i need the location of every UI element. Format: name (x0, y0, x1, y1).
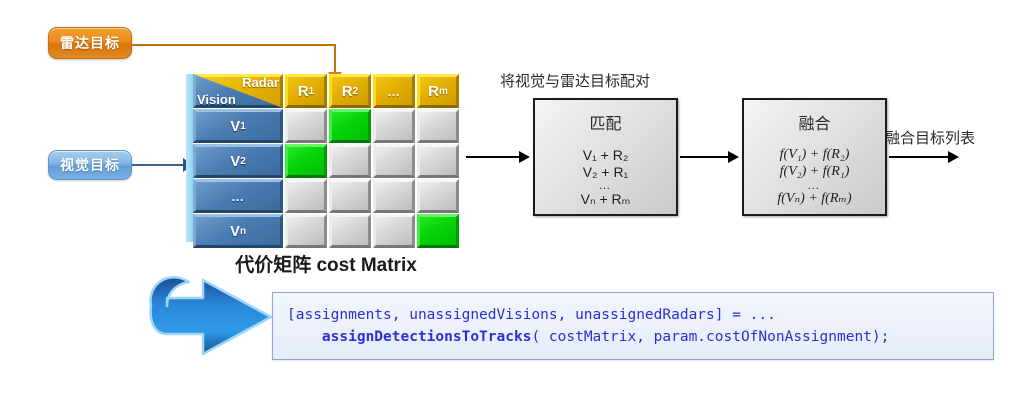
matrix-row-3: Vn (193, 214, 459, 248)
col-header-sub-1: 2 (353, 86, 359, 97)
matrix-row-2: … (193, 179, 459, 213)
radar-connector-vertical (334, 44, 336, 74)
row-header-sub-3: n (240, 226, 246, 237)
code-function-name: assignDetectionsToTracks (322, 329, 532, 345)
arrow-matrix-to-match (466, 156, 521, 158)
match-line-3: Vₙ + Rₘ (535, 191, 676, 208)
matrix-cell-1-1[interactable] (329, 144, 371, 178)
matrix-row-header-3: Vn (193, 214, 283, 248)
arrow-match-to-fuse-head (728, 151, 739, 163)
matrix-cell-2-3[interactable] (417, 179, 459, 213)
matrix-col-header-3: Rm (417, 74, 459, 108)
arrow-fuse-to-output (889, 156, 951, 158)
match-line-2: … (535, 180, 676, 191)
matrix-cell-1-3[interactable] (417, 144, 459, 178)
matrix-cell-3-2[interactable] (373, 214, 415, 248)
fuse-box-title: 融合 (744, 110, 885, 134)
match-process-box: 匹配 V₁ + R₂ V₂ + R₁ … Vₙ + Rₘ (533, 98, 678, 216)
matrix-cell-0-3[interactable] (417, 109, 459, 143)
corner-vision-label: Vision (197, 92, 236, 107)
row-header-text-0: V (230, 118, 240, 135)
arrow-fuse-to-output-head (948, 151, 959, 163)
curved-arrow-icon (145, 272, 280, 364)
matrix-cell-2-2[interactable] (373, 179, 415, 213)
match-box-lines: V₁ + R₂ V₂ + R₁ … Vₙ + Rₘ (535, 147, 676, 207)
matrix-corner-cell: Radar Vision (193, 74, 283, 108)
arrow-match-to-fuse (680, 156, 730, 158)
fuse-line-2: … (744, 180, 885, 191)
pairing-caption: 将视觉与雷达目标配对 (500, 70, 650, 91)
col-header-text-2: … (387, 84, 401, 99)
arrow-matrix-to-match-head (519, 151, 530, 163)
col-header-sub-3: m (439, 86, 448, 97)
row-header-sub-1: 2 (240, 156, 246, 167)
corner-radar-label: Radar (242, 75, 279, 90)
col-header-text-1: R (342, 83, 353, 100)
matrix-col-header-0: R1 (285, 74, 327, 108)
matrix-cell-3-3[interactable] (417, 214, 459, 248)
matrix-col-header-2: … (373, 74, 415, 108)
matrix-header-row: Radar Vision R1 R2 … Rm (193, 74, 459, 108)
match-box-title: 匹配 (535, 110, 676, 134)
matrix-left-edge (186, 74, 193, 242)
code-line-1: [assignments, unassignedVisions, unassig… (287, 304, 993, 326)
matrix-cell-2-0[interactable] (285, 179, 327, 213)
fuse-box-lines: f(V₁) + f(R₂) f(V₂) + f(R₁) … f(Vₙ) + f(… (744, 147, 885, 207)
diagram-canvas: 雷达目标 视觉目标 Radar Vision R1 R2 (0, 0, 1018, 420)
col-header-sub-0: 1 (309, 86, 315, 97)
fuse-line-0: f(V₁) + f(R₂) (744, 147, 885, 164)
matrix-cell-3-1[interactable] (329, 214, 371, 248)
code-indent (287, 329, 322, 345)
col-header-text-0: R (298, 83, 309, 100)
matrix-cell-0-2[interactable] (373, 109, 415, 143)
code-snippet-box[interactable]: [assignments, unassignedVisions, unassig… (272, 292, 994, 360)
matrix-row-1: V2 (193, 144, 459, 178)
vision-source-label: 视觉目标 (48, 150, 132, 180)
matrix-row-header-0: V1 (193, 109, 283, 143)
matrix-cell-3-0[interactable] (285, 214, 327, 248)
matrix-grid: Radar Vision R1 R2 … Rm V1 (193, 74, 459, 248)
row-header-text-1: V (230, 153, 240, 170)
row-header-sub-0: 1 (240, 121, 246, 132)
vision-connector-line (132, 164, 187, 166)
code-arguments: ( costMatrix, param.costOfNonAssignment)… (531, 329, 889, 345)
matrix-row-header-1: V2 (193, 144, 283, 178)
row-header-text-2: … (231, 189, 245, 204)
fuse-process-box: 融合 f(V₁) + f(R₂) f(V₂) + f(R₁) … f(Vₙ) +… (742, 98, 887, 216)
radar-source-label: 雷达目标 (48, 27, 132, 59)
matrix-cell-1-0[interactable] (285, 144, 327, 178)
matrix-row-header-2: … (193, 179, 283, 213)
output-caption: 融合目标列表 (885, 127, 975, 148)
match-line-0: V₁ + R₂ (535, 147, 676, 164)
row-header-text-3: V (230, 223, 240, 240)
matrix-cell-0-1[interactable] (329, 109, 371, 143)
matrix-cell-2-1[interactable] (329, 179, 371, 213)
radar-connector-horizontal (132, 44, 336, 46)
matrix-cell-0-0[interactable] (285, 109, 327, 143)
code-line-2: assignDetectionsToTracks( costMatrix, pa… (287, 326, 993, 348)
matrix-col-header-1: R2 (329, 74, 371, 108)
matrix-row-0: V1 (193, 109, 459, 143)
col-header-text-3: R (428, 83, 439, 100)
fuse-line-3: f(Vₙ) + f(Rₘ) (744, 191, 885, 208)
matrix-cell-1-2[interactable] (373, 144, 415, 178)
